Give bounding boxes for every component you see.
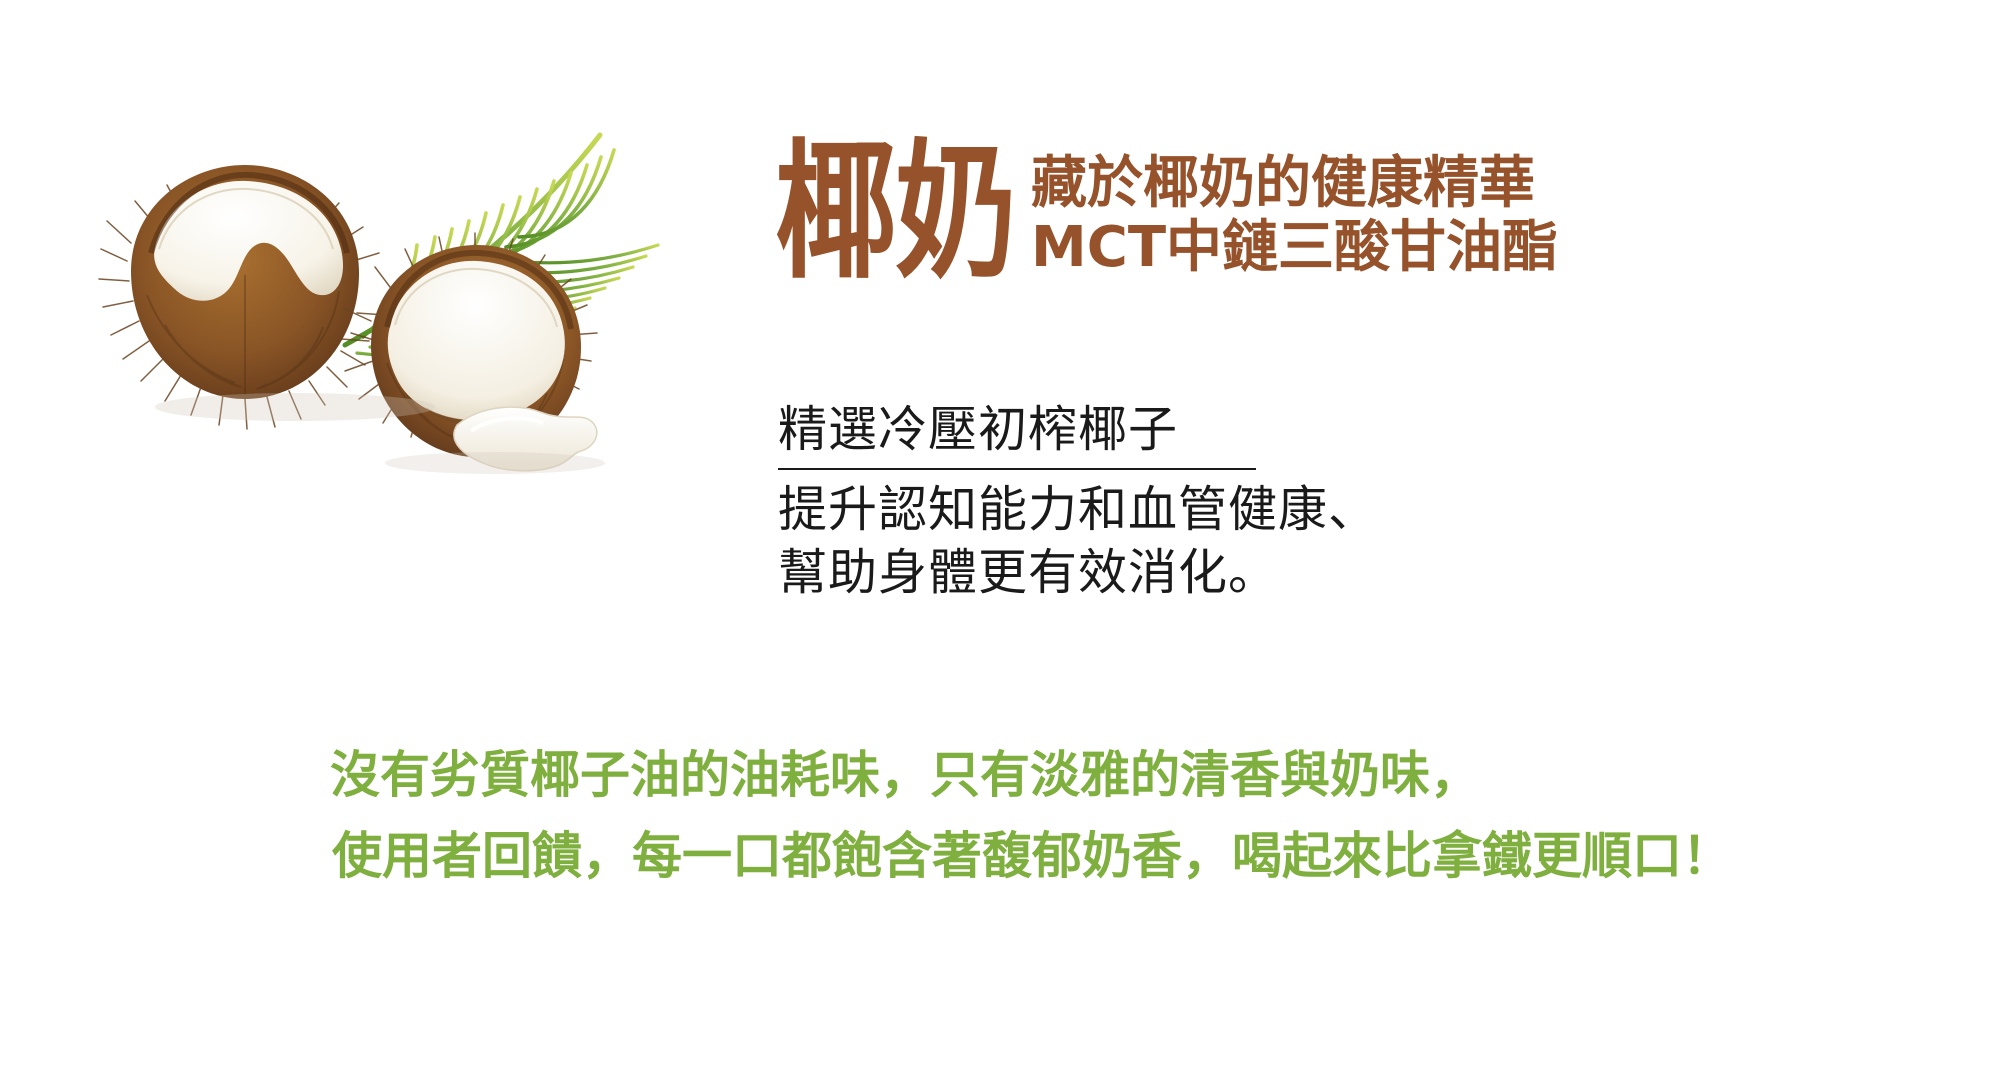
headline-subtitle-line-2: MCT中鏈三酸甘油酯 (1031, 216, 1558, 280)
promo-text-block: 沒有劣質椰子油的油耗味，只有淡雅的清香與奶味， 使用者回饋，每一口都飽含著馥郁奶… (330, 735, 1732, 897)
body-copy-line-3: 幫助身體更有效消化。 (778, 541, 1378, 605)
body-copy-block: 精選冷壓初榨椰子 提升認知能力和血管健康、 幫助身體更有效消化。 (778, 398, 1378, 605)
coconut-illustration (95, 95, 715, 495)
coconut-half-left (99, 165, 385, 429)
promo-line-1: 沒有劣質椰子油的油耗味，只有淡雅的清香與奶味， (330, 735, 1732, 816)
headline-block: 椰奶 藏於椰奶的健康精華 MCT中鏈三酸甘油酯 (775, 138, 1558, 280)
promo-line-2: 使用者回饋，每一口都飽含著馥郁奶香，喝起來比拿鐵更順口！ (330, 816, 1732, 897)
brand-title: 椰奶 (775, 138, 1015, 287)
headline-subtitle-line-1: 藏於椰奶的健康精華 (1031, 152, 1558, 216)
promo-banner: 椰奶 藏於椰奶的健康精華 MCT中鏈三酸甘油酯 精選冷壓初榨椰子 提升認知能力和… (0, 0, 2000, 1080)
headline-subtitle-stack: 藏於椰奶的健康精華 MCT中鏈三酸甘油酯 (1031, 152, 1558, 280)
body-copy-line-1: 精選冷壓初榨椰子 (778, 398, 1378, 466)
body-copy-divider (778, 468, 1256, 470)
body-copy-line-2: 提升認知能力和血管健康、 (778, 478, 1378, 542)
